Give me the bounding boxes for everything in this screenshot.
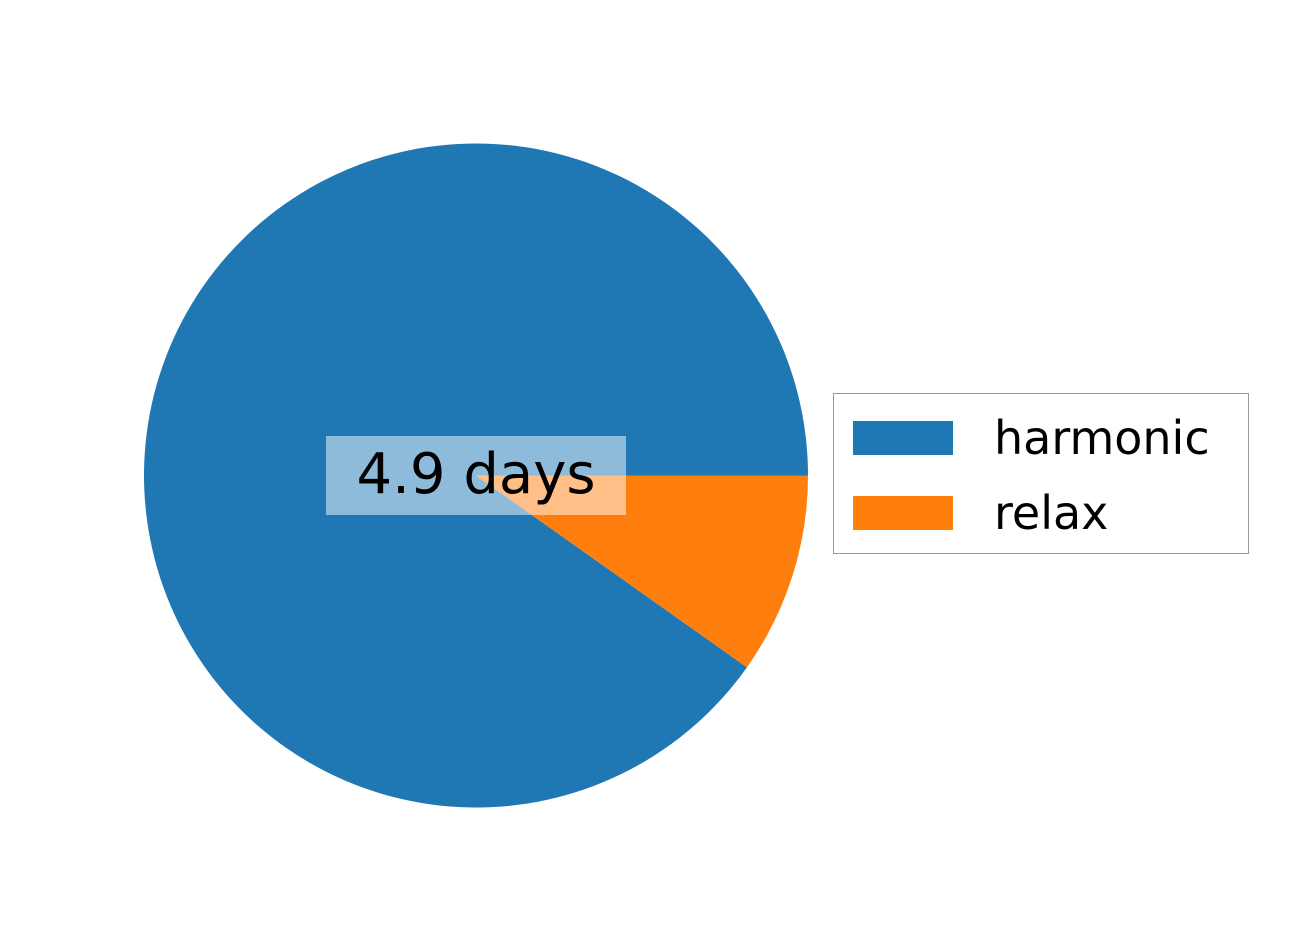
center-value-text: 4.9 days [356,447,595,503]
legend-swatch-relax [853,496,953,530]
legend-item-relax[interactable]: relax [834,491,1248,535]
legend-label-relax: relax [994,491,1108,535]
legend: harmonic relax [833,393,1249,554]
center-value-label: 4.9 days [326,436,626,515]
legend-item-harmonic[interactable]: harmonic [834,416,1248,460]
pie-chart-figure: 4.9 days harmonic relax [0,0,1307,951]
legend-swatch-harmonic [853,421,953,455]
legend-label-harmonic: harmonic [994,416,1210,460]
